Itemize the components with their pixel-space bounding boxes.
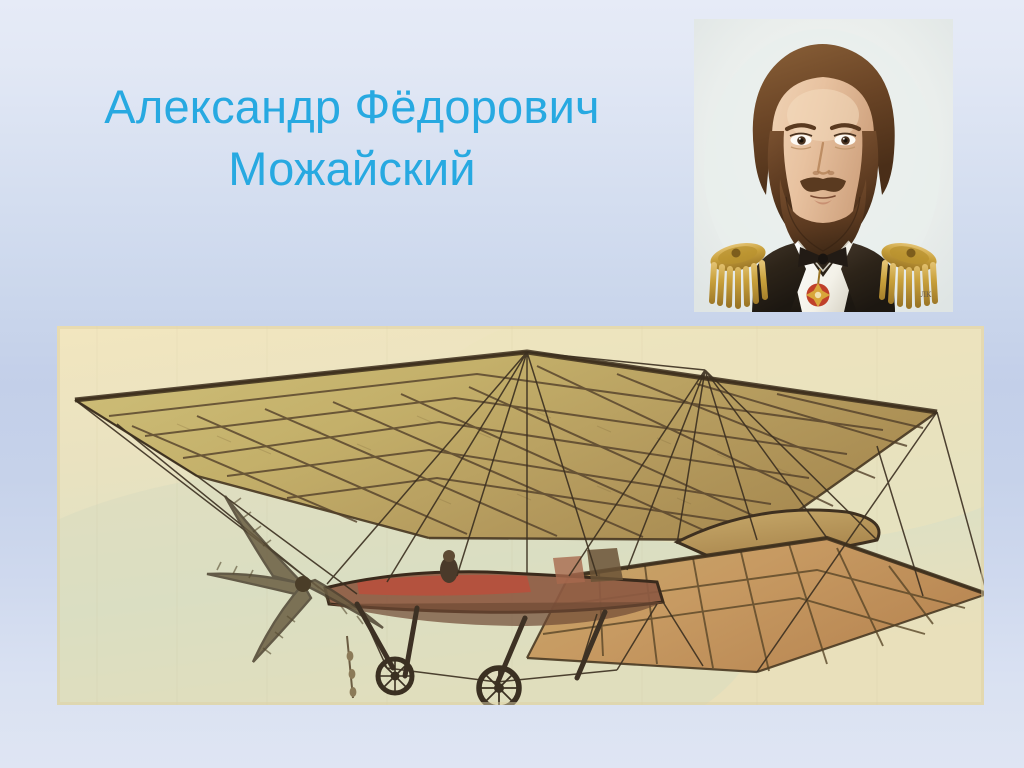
aircraft-artwork — [57, 326, 984, 705]
slide-title: Александр Фёдорович Можайский — [38, 76, 666, 200]
aircraft-image — [57, 326, 984, 705]
portrait-signature: ЛК — [921, 290, 932, 299]
wheel-front — [378, 659, 412, 693]
portrait-artwork: ЛК — [694, 19, 953, 312]
portrait-image: ЛК — [694, 19, 953, 312]
slide-canvas: Александр Фёдорович Можайский — [0, 0, 1024, 768]
